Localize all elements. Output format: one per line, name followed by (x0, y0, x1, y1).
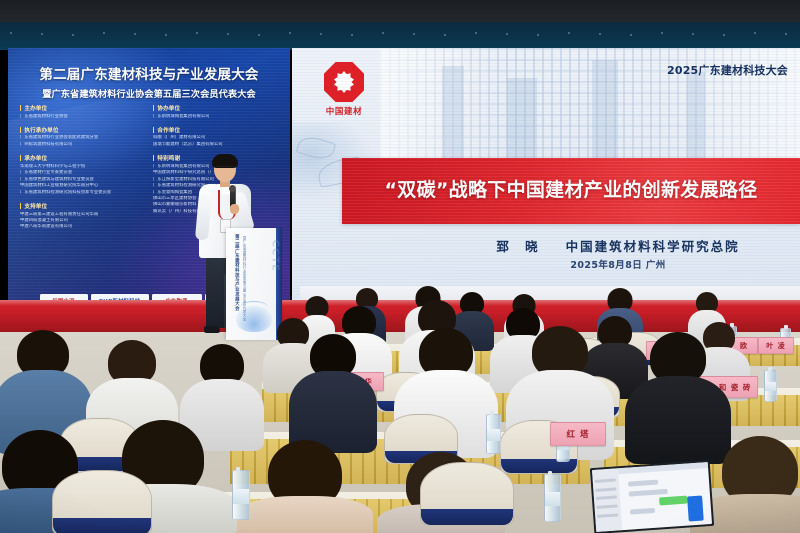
screen-scanline-overlay (292, 48, 800, 310)
speaker-glasses-icon (216, 166, 234, 171)
audience-chair (52, 470, 152, 533)
message-bubble (630, 508, 656, 515)
app-sidebar (592, 468, 622, 532)
podium-subtitle-text: 暨广东省建筑材料行业协会第五届三次会员代表大会 (241, 236, 247, 302)
podium-title-text: 第二届广东建材科技与产业发展大会 (232, 234, 240, 310)
message-bubble (628, 479, 658, 486)
wall-light-dots (0, 30, 800, 42)
water-bottle (232, 470, 250, 520)
audience-chair (420, 462, 514, 526)
message-bubble (628, 488, 668, 496)
podium-watermark: CCTE (269, 240, 280, 272)
highlight-panel (687, 496, 704, 522)
laptop[interactable] (590, 460, 714, 533)
laptop-screen[interactable] (590, 460, 714, 533)
name-card: 叶 凌 (758, 337, 794, 354)
conference-photo: 第二届广东建材科技与产业发展大会 暨广东省建筑材料行业协会第五届三次会员代表大会… (0, 0, 800, 533)
name-card: 红 塔 (550, 422, 606, 446)
speaker-shoe (204, 326, 220, 333)
presentation-screen: 中国建材 2025广东建材科技大会 “双碳”战略下中国建材产业的创新发展路径 郅… (292, 48, 800, 310)
message-bubble-sent (659, 496, 687, 505)
audience-person-foreground (700, 436, 800, 533)
laptop-screen-content (592, 462, 712, 532)
audience-person (294, 334, 372, 450)
water-bottle (544, 474, 561, 522)
water-bottle (764, 370, 777, 402)
speaker-hand (230, 204, 239, 214)
audience-person-foreground (246, 440, 364, 533)
water-bottle (486, 414, 501, 454)
ceiling (0, 0, 800, 22)
